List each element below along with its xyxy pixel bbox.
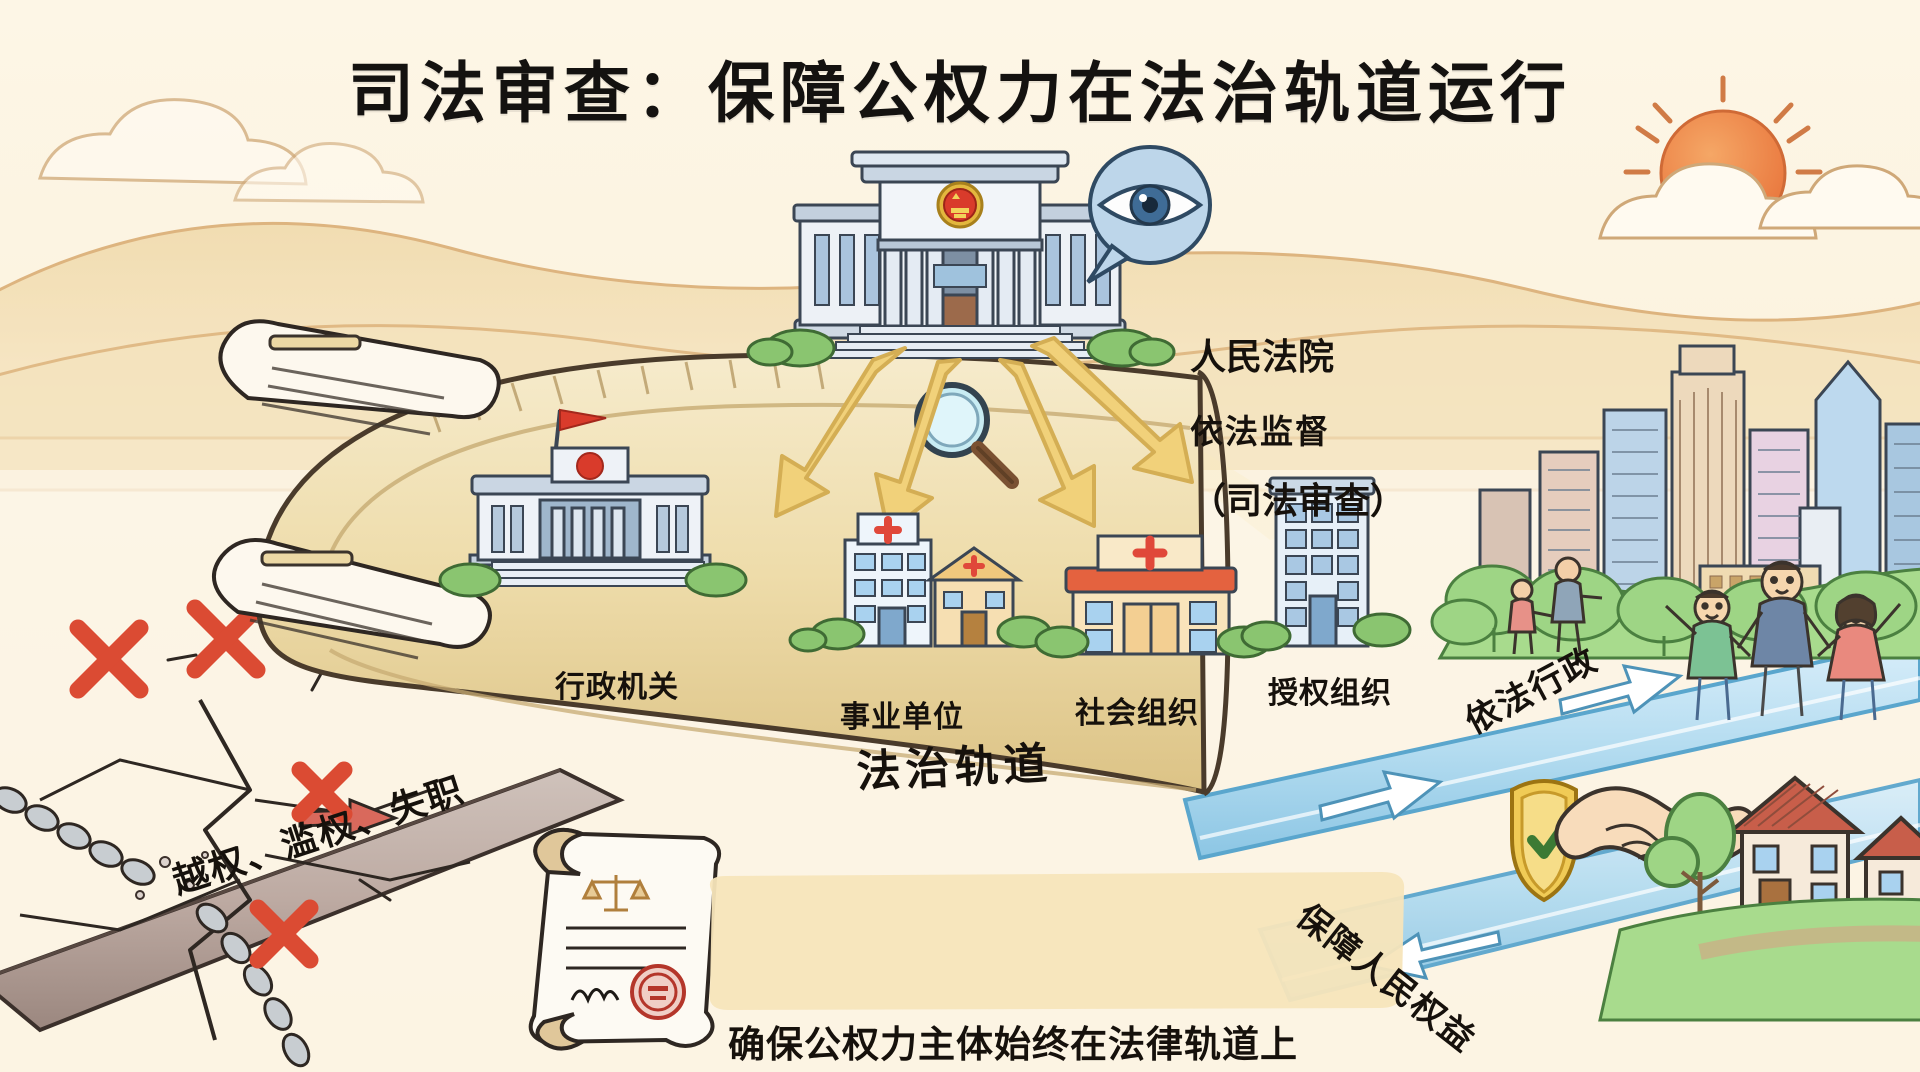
government-building-icon[interactable] (440, 410, 746, 596)
org-label-social-organization: 社会组织 (1075, 688, 1199, 732)
caption-text: 确保公权力主体始终在法律轨道上 运行，不越权、不滥权、不失职 (728, 905, 1388, 1072)
hospital-school-icon[interactable] (790, 514, 1050, 651)
track-label: 法治轨道 (855, 727, 1054, 799)
court-label-line2: （司法审查） (1190, 478, 1406, 526)
supervision-label: 依法监督 (1190, 405, 1330, 453)
court-label-line1: 人民法院 (1190, 334, 1406, 382)
org-label-public-institution: 事业单位 (840, 692, 964, 736)
caption-line1: 确保公权力主体始终在法律轨道上 (728, 1017, 1388, 1072)
page-title: 司法审查：保障公权力在法治轨道运行 (0, 40, 1920, 136)
infographic-canvas: 司法审查：保障公权力在法治轨道运行 人民法院 （司法审查） 依法监督 行政机关 … (0, 0, 1920, 1072)
legal-document-scroll-icon[interactable] (531, 830, 719, 1049)
org-label-administrative: 行政机关 (555, 662, 679, 706)
org-label-authorized-organization: 授权组织 (1268, 668, 1392, 712)
national-emblem (938, 183, 982, 227)
